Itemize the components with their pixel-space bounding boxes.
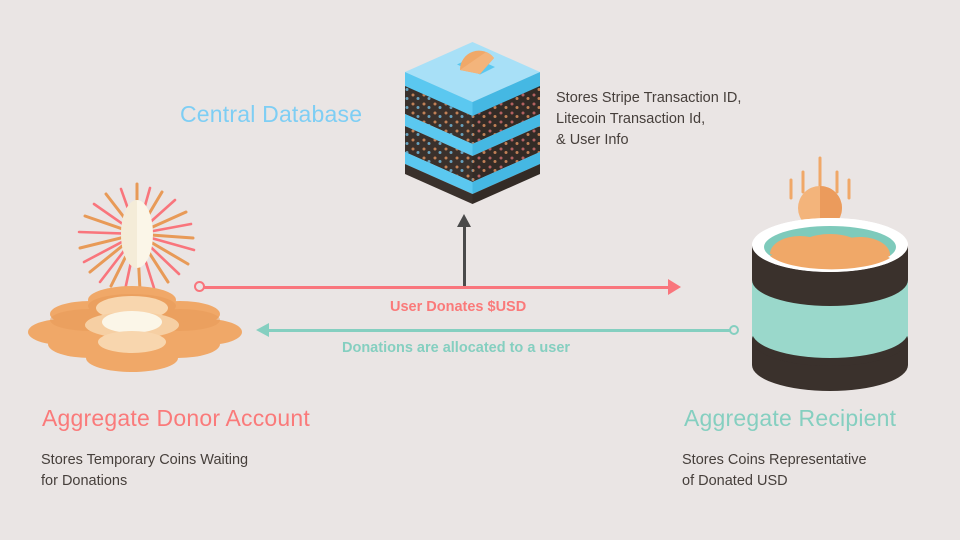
aggregate-recipient-description: Stores Coins Representative of Donated U… [682, 450, 867, 492]
donate-arrow-line [204, 286, 672, 289]
donate-arrow-head [668, 279, 681, 295]
allocate-arrow-line [266, 329, 734, 332]
donate-arrow-origin [194, 281, 205, 292]
allocate-flow-label: Donations are allocated to a user [342, 340, 570, 356]
record-arrow-head [457, 214, 471, 227]
server-stack-icon [400, 30, 545, 215]
aggregate-donor-account-description: Stores Temporary Coins Waiting for Donat… [41, 450, 248, 492]
aggregate-recipient-title: Aggregate Recipient [684, 405, 896, 432]
coin-jar-icon [730, 140, 930, 400]
donate-flow-label: User Donates $USD [390, 299, 526, 315]
central-database-title: Central Database [180, 101, 362, 128]
coin-pile-icon [28, 172, 268, 372]
aggregate-donor-account-title: Aggregate Donor Account [42, 405, 310, 432]
allocate-arrow-head [256, 323, 269, 337]
record-arrow-line [463, 224, 466, 286]
allocate-arrow-origin [729, 325, 739, 335]
central-database-description: Stores Stripe Transaction ID, Litecoin T… [556, 88, 741, 151]
diagram-canvas: User Donates $USD Donations are allocate… [0, 0, 960, 540]
